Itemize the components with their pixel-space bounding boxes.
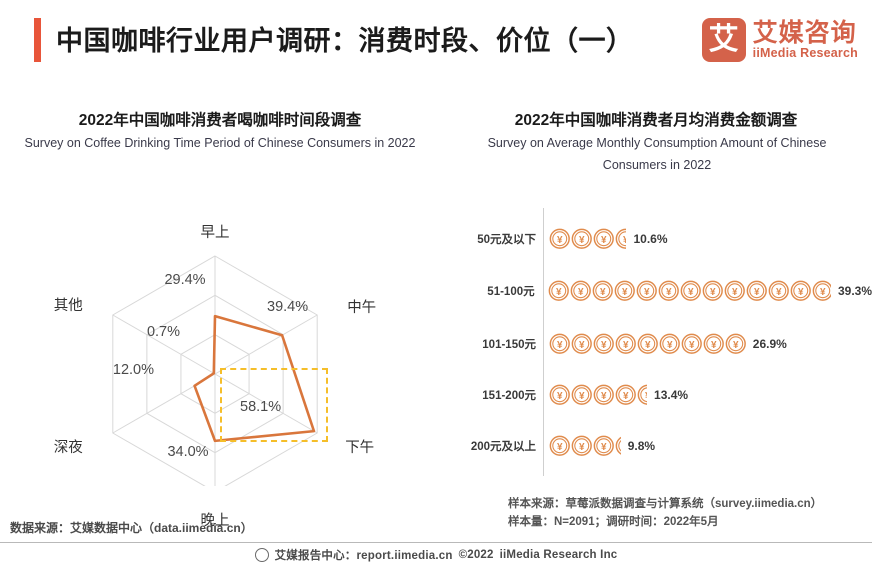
- yen-coin-icon: ¥: [725, 333, 746, 355]
- svg-text:¥: ¥: [622, 287, 628, 298]
- yen-coin-icon: ¥: [703, 333, 725, 355]
- svg-text:¥: ¥: [601, 442, 607, 453]
- radar-value-label-1: 39.4%: [267, 299, 308, 315]
- svg-text:¥: ¥: [688, 287, 694, 298]
- svg-text:¥: ¥: [623, 340, 629, 351]
- pictogram-row: 51-100元¥¥¥¥¥¥¥¥¥¥¥¥¥¥39.3%: [452, 278, 872, 304]
- svg-text:¥: ¥: [557, 442, 563, 453]
- right-chart-title-en-line2: Consumers in 2022: [452, 155, 862, 177]
- sample-size-note: 样本量：N=2091；调研时间：2022年5月: [508, 513, 719, 529]
- yen-coin-icon: ¥: [615, 435, 621, 457]
- left-data-source-note: 数据来源：艾媒数据中心（data.iimedia.cn）: [10, 519, 253, 536]
- globe-icon: [255, 548, 269, 562]
- svg-text:¥: ¥: [732, 287, 738, 298]
- title-accent-bar: [34, 18, 41, 62]
- yen-coin-icon: ¥: [615, 228, 626, 250]
- pictogram-value-label: 9.8%: [628, 439, 655, 453]
- footer-copyright: ©2022: [459, 549, 494, 561]
- logo-mark-icon: 艾: [702, 18, 746, 62]
- yen-coin-icon: ¥: [790, 280, 812, 302]
- yen-coin-icon: ¥: [548, 280, 570, 302]
- svg-text:¥: ¥: [733, 340, 739, 351]
- svg-text:¥: ¥: [557, 235, 563, 246]
- pictogram-category-label: 151-200元: [452, 387, 549, 403]
- yen-coin-icon: ¥: [593, 333, 615, 355]
- yen-coin-icon: ¥: [549, 333, 571, 355]
- yen-coin-icon: ¥: [592, 280, 614, 302]
- logo-name-en: iiMedia Research: [753, 47, 858, 60]
- radar-value-label-2: 58.1%: [240, 399, 281, 415]
- pictogram-coin-group: ¥¥¥¥¥¥¥¥¥¥¥¥¥¥: [548, 280, 831, 302]
- pictogram-coin-group: ¥¥¥¥: [549, 228, 626, 250]
- svg-text:¥: ¥: [645, 391, 647, 402]
- yen-coin-icon: ¥: [724, 280, 746, 302]
- page-title: 中国咖啡行业用户调研：消费时段、价位（一）: [56, 19, 634, 58]
- svg-text:¥: ¥: [623, 235, 626, 246]
- yen-coin-icon: ¥: [636, 280, 658, 302]
- svg-text:¥: ¥: [557, 340, 563, 351]
- radar-value-label-0: 29.4%: [164, 272, 205, 288]
- yen-coin-icon: ¥: [571, 384, 593, 406]
- yen-coin-icon: ¥: [593, 435, 615, 457]
- brand-logo: 艾 艾媒咨询 iiMedia Research: [702, 18, 858, 62]
- svg-text:¥: ¥: [710, 287, 716, 298]
- left-chart-title-en: Survey on Coffee Drinking Time Period of…: [0, 133, 440, 155]
- radar-value-label-3: 34.0%: [167, 444, 208, 460]
- yen-coin-icon: ¥: [593, 384, 615, 406]
- svg-text:¥: ¥: [623, 391, 629, 402]
- pictogram-coin-group: ¥¥¥¥: [549, 435, 621, 457]
- pictogram-chart: 50元及以下¥¥¥¥10.6%51-100元¥¥¥¥¥¥¥¥¥¥¥¥¥¥39.3…: [452, 200, 872, 480]
- svg-text:¥: ¥: [645, 340, 651, 351]
- svg-text:¥: ¥: [601, 340, 607, 351]
- svg-text:¥: ¥: [579, 391, 585, 402]
- svg-text:¥: ¥: [579, 442, 585, 453]
- radar-chart: 早上中午下午晚上深夜其他 29.4%39.4%58.1%34.0%12.0%0.…: [60, 196, 410, 486]
- svg-text:¥: ¥: [579, 235, 585, 246]
- yen-coin-icon: ¥: [658, 280, 680, 302]
- yen-coin-icon: ¥: [680, 280, 702, 302]
- yen-coin-icon: ¥: [746, 280, 768, 302]
- yen-coin-icon: ¥: [681, 333, 703, 355]
- svg-text:¥: ¥: [666, 287, 672, 298]
- pictogram-category-label: 50元及以下: [452, 231, 549, 247]
- yen-coin-icon: ¥: [549, 435, 571, 457]
- page-footer: 艾媒报告中心：report.iimedia.cn ©2022 iiMedia R…: [0, 543, 872, 567]
- radar-value-label-4: 12.0%: [113, 362, 154, 378]
- yen-coin-icon: ¥: [702, 280, 724, 302]
- svg-text:¥: ¥: [556, 287, 562, 298]
- pictogram-row: 101-150元¥¥¥¥¥¥¥¥¥26.9%: [452, 331, 872, 357]
- pictogram-value-label: 39.3%: [838, 284, 872, 298]
- footer-company: iiMedia Research Inc: [500, 549, 618, 561]
- yen-coin-icon: ¥: [768, 280, 790, 302]
- pictogram-category-label: 200元及以上: [452, 438, 549, 454]
- yen-coin-icon: ¥: [571, 333, 593, 355]
- radar-axis-label-4: 深夜: [54, 436, 83, 457]
- right-chart-title-cn: 2022年中国咖啡消费者月均消费金额调查: [440, 108, 872, 130]
- yen-coin-icon: ¥: [812, 280, 831, 302]
- page-header: 中国咖啡行业用户调研：消费时段、价位（一） 艾 艾媒咨询 iiMedia Res…: [0, 0, 872, 80]
- logo-name-cn: 艾媒咨询: [753, 20, 858, 46]
- radar-value-label-5: 0.7%: [147, 324, 180, 340]
- yen-coin-icon: ¥: [659, 333, 681, 355]
- yen-coin-icon: ¥: [549, 384, 571, 406]
- right-chart-title-en-line1: Survey on Average Monthly Consumption Am…: [452, 133, 862, 155]
- svg-text:¥: ¥: [711, 340, 717, 351]
- svg-text:¥: ¥: [601, 235, 607, 246]
- yen-coin-icon: ¥: [549, 228, 571, 250]
- right-chart-title-en: Survey on Average Monthly Consumption Am…: [452, 133, 862, 177]
- yen-coin-icon: ¥: [593, 228, 615, 250]
- yen-coin-icon: ¥: [637, 384, 647, 406]
- svg-text:¥: ¥: [557, 391, 563, 402]
- yen-coin-icon: ¥: [637, 333, 659, 355]
- radar-axis-label-5: 其他: [54, 294, 83, 315]
- yen-coin-icon: ¥: [615, 384, 637, 406]
- pictogram-coin-group: ¥¥¥¥¥: [549, 384, 647, 406]
- yen-coin-icon: ¥: [571, 228, 593, 250]
- logo-text: 艾媒咨询 iiMedia Research: [753, 20, 858, 59]
- radar-axis-label-2: 下午: [345, 436, 374, 457]
- left-chart-title-cn: 2022年中国咖啡消费者喝咖啡时间段调查: [0, 108, 440, 130]
- svg-text:¥: ¥: [578, 287, 584, 298]
- pictogram-row: 200元及以上¥¥¥¥9.8%: [452, 433, 872, 459]
- pictogram-value-label: 13.4%: [654, 388, 688, 402]
- yen-coin-icon: ¥: [570, 280, 592, 302]
- svg-text:¥: ¥: [776, 287, 782, 298]
- svg-text:¥: ¥: [644, 287, 650, 298]
- svg-text:¥: ¥: [754, 287, 760, 298]
- svg-text:¥: ¥: [820, 287, 826, 298]
- svg-text:¥: ¥: [798, 287, 804, 298]
- yen-coin-icon: ¥: [571, 435, 593, 457]
- svg-text:¥: ¥: [600, 287, 606, 298]
- footer-report-center: 艾媒报告中心：report.iimedia.cn: [275, 547, 453, 563]
- radar-axis-label-1: 中午: [347, 296, 376, 317]
- svg-text:¥: ¥: [601, 391, 607, 402]
- pictogram-category-label: 51-100元: [452, 283, 548, 299]
- radar-axis-label-0: 早上: [201, 221, 230, 242]
- pictogram-row: 50元及以下¥¥¥¥10.6%: [452, 226, 872, 252]
- pictogram-category-label: 101-150元: [452, 336, 549, 352]
- radar-spoke: [215, 315, 317, 374]
- yen-coin-icon: ¥: [615, 333, 637, 355]
- sample-source-note: 样本来源：草莓派数据调查与计算系统（survey.iimedia.cn）: [508, 495, 822, 511]
- pictogram-row: 151-200元¥¥¥¥¥13.4%: [452, 382, 872, 408]
- svg-text:¥: ¥: [667, 340, 673, 351]
- pictogram-value-label: 26.9%: [753, 337, 787, 351]
- svg-text:¥: ¥: [689, 340, 695, 351]
- svg-text:¥: ¥: [579, 340, 585, 351]
- pictogram-value-label: 10.6%: [633, 232, 667, 246]
- yen-coin-icon: ¥: [614, 280, 636, 302]
- pictogram-coin-group: ¥¥¥¥¥¥¥¥¥: [549, 333, 746, 355]
